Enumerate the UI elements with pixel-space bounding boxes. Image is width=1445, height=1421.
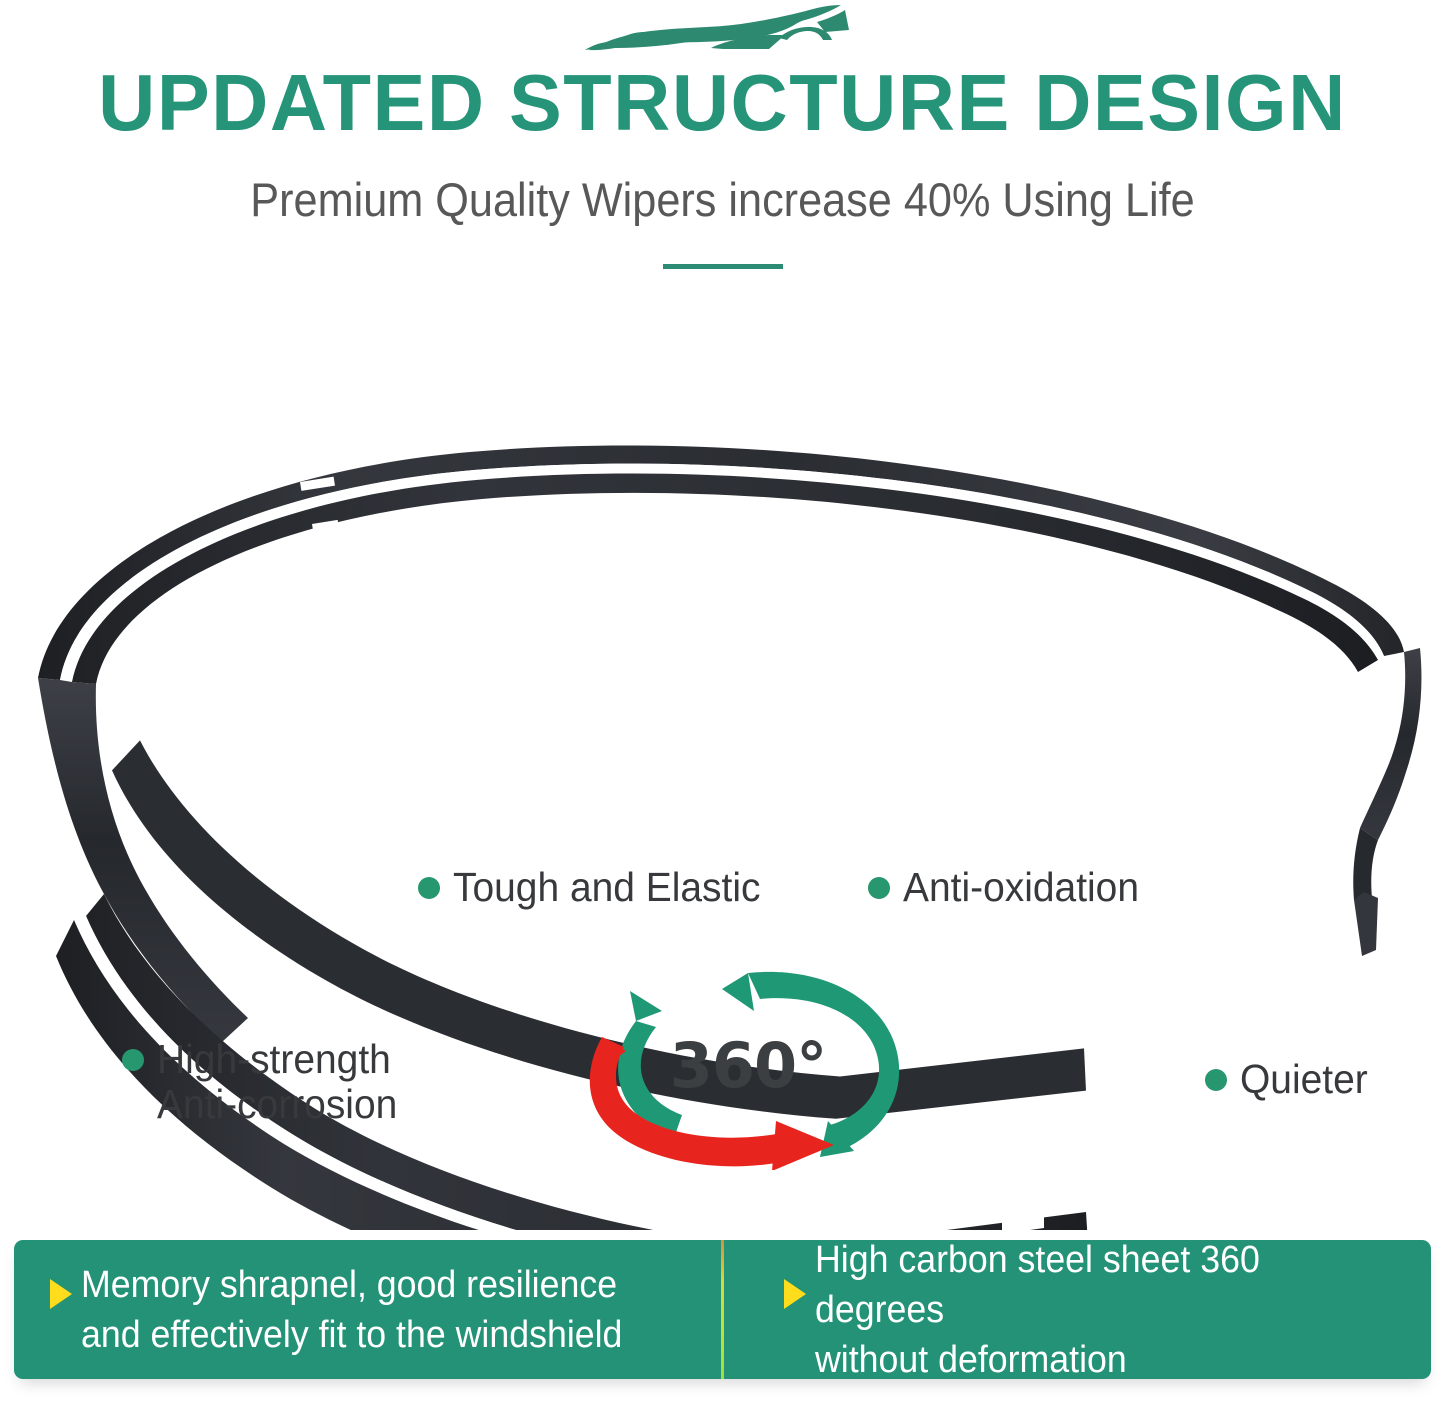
feature-label-text: High-strength Anti-corrosion xyxy=(157,1037,397,1127)
feature-anti-oxidation: Anti-oxidation xyxy=(868,865,1151,910)
feature-label-text: Anti-oxidation xyxy=(903,865,1139,910)
bullet-dot-icon xyxy=(418,877,440,899)
panel-memory-shrapnel: Memory shrapnel, good resilience and eff… xyxy=(14,1240,721,1379)
title-divider xyxy=(663,264,783,269)
bullet-dot-icon xyxy=(1205,1069,1227,1091)
car-silhouette-icon xyxy=(573,4,873,60)
feature-high-strength-anti-corrosion: High-strength Anti-corrosion xyxy=(122,1037,410,1127)
badge-360-degrees: 360° xyxy=(572,955,912,1170)
header-banner: UPDATED STRUCTURE DESIGN Premium Quality… xyxy=(0,0,1445,290)
feature-label-text: Tough and Elastic xyxy=(453,865,760,910)
bullet-dot-icon xyxy=(122,1049,144,1071)
feature-tough-and-elastic: Tough and Elastic xyxy=(418,865,777,910)
play-triangle-icon xyxy=(784,1279,806,1309)
page-title: UPDATED STRUCTURE DESIGN xyxy=(7,60,1438,146)
feature-quieter: Quieter xyxy=(1205,1057,1374,1102)
panel-text: High carbon steel sheet 360 degrees with… xyxy=(815,1235,1394,1385)
bullet-dot-icon xyxy=(868,877,890,899)
feature-callout-panels: Memory shrapnel, good resilience and eff… xyxy=(14,1240,1431,1379)
rotation-arrows-icon xyxy=(572,955,912,1170)
panel-high-carbon-steel: High carbon steel sheet 360 degrees with… xyxy=(724,1240,1431,1379)
play-triangle-icon xyxy=(50,1279,72,1309)
page-subtitle: Premium Quality Wipers increase 40% Usin… xyxy=(58,172,1387,228)
feature-label-text: Quieter xyxy=(1240,1057,1368,1102)
panel-text: Memory shrapnel, good resilience and eff… xyxy=(81,1260,622,1360)
product-showcase: Tough and Elastic Anti-oxidation High-st… xyxy=(0,300,1445,1230)
